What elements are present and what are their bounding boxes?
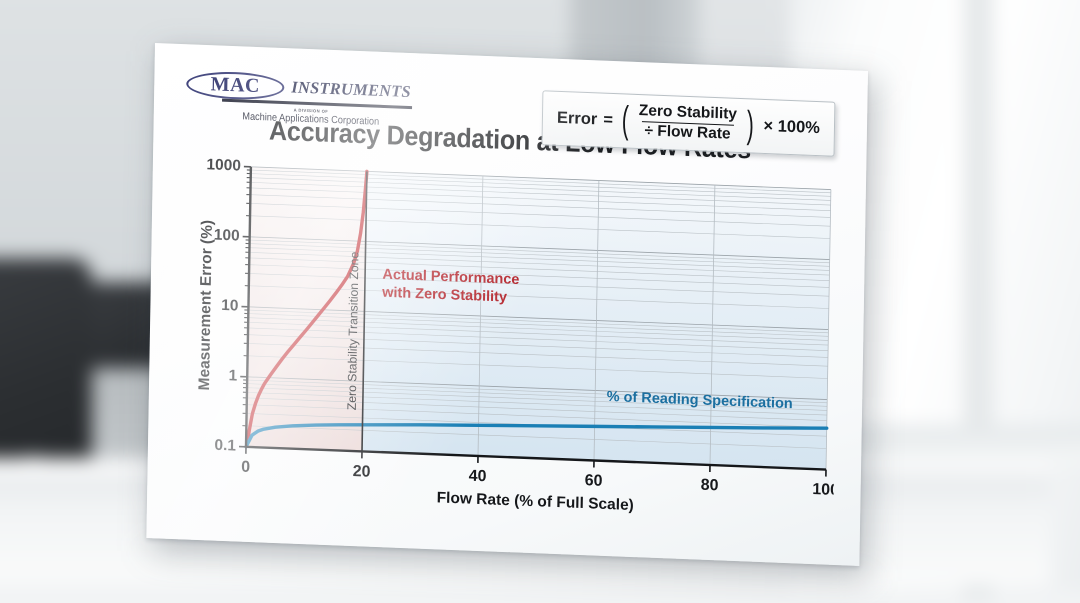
y-tick-label: 100 <box>214 227 240 245</box>
x-tick-label: 100 <box>812 481 839 499</box>
x-tick-label: 80 <box>701 477 719 495</box>
formula-paren-close: ) <box>746 112 753 140</box>
chart-card: MAC INSTRUMENTS A DIVISION OF Machine Ap… <box>146 43 868 566</box>
formula-fraction: Zero Stability ÷ Flow Rate <box>635 103 740 144</box>
x-axis-title: Flow Rate (% of Full Scale) <box>437 489 634 514</box>
x-tick-label: 40 <box>469 468 487 486</box>
formula-equals: = <box>603 110 613 129</box>
y-tick-label: 1000 <box>206 157 241 175</box>
chart-svg-canvas: 0.11101001000020406080100Flow Rate (% of… <box>193 157 839 527</box>
x-tick-label: 60 <box>585 472 603 490</box>
chart-card-wrapper: MAC INSTRUMENTS A DIVISION OF Machine Ap… <box>0 0 1080 603</box>
accuracy-degradation-chart: 0.11101001000020406080100Flow Rate (% of… <box>193 157 839 527</box>
logo-mac-text: MAC <box>211 74 261 96</box>
y-axis-title: Measurement Error (%) <box>196 220 216 391</box>
y-tick-label: 1 <box>228 367 237 384</box>
formula-denominator: ÷ Flow Rate <box>641 121 733 143</box>
x-tick-label: 20 <box>353 463 371 481</box>
logo-instruments-text: INSTRUMENTS <box>291 77 411 102</box>
formula-lhs: Error <box>557 109 598 130</box>
formula-multiplier: × 100% <box>763 117 820 138</box>
logo-oval-mark: MAC <box>186 70 284 101</box>
y-tick-label: 10 <box>221 297 239 315</box>
chart-card-content: MAC INSTRUMENTS A DIVISION OF Machine Ap… <box>146 43 868 566</box>
y-tick-label: 0.1 <box>214 437 236 455</box>
x-tick-label: 0 <box>241 459 250 476</box>
annotation-transition-zone: Zero Stability Transition Zone <box>345 251 362 410</box>
formula-paren-open: ( <box>622 107 629 135</box>
